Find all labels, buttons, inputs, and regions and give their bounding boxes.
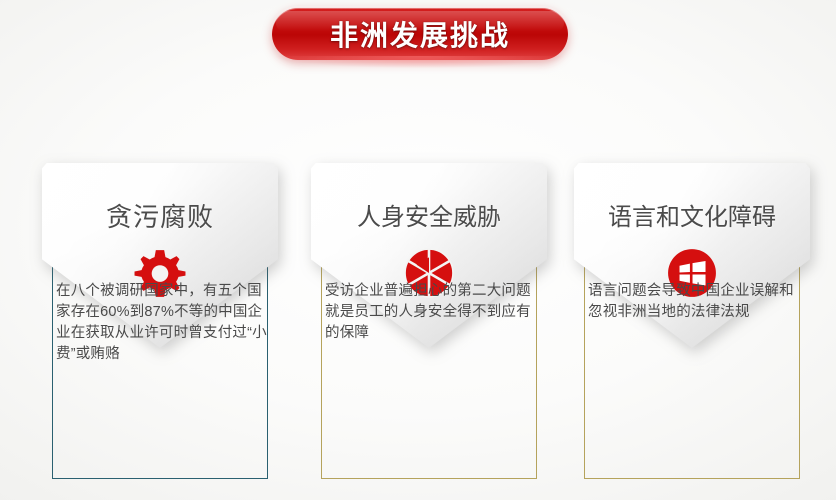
card-body-text: 受访企业普遍担心的第二大问题就是员工的人身安全得不到应有的保障 — [325, 281, 537, 344]
page-title: 非洲发展挑战 — [330, 14, 510, 54]
title-banner: 非洲发展挑战 — [272, 8, 568, 60]
card-heading: 人身安全威胁 — [311, 197, 547, 232]
card-heading: 语言和文化障碍 — [574, 197, 810, 232]
card-body-text: 在八个被调研国家中，有五个国家存在60%到87%不等的中国企业在获取从业许可时曾… — [56, 281, 268, 365]
card-body-text: 语言问题会导致中国企业误解和忽视非洲当地的法律法规 — [588, 281, 800, 323]
challenge-card-personal-safety: 人身安全威胁 — [311, 163, 547, 483]
challenge-card-language-culture: 语言和文化障碍 语言问题会导致中国企业误解和忽视非洲当地的法律法规 — [574, 163, 810, 483]
card-heading: 贪污腐败 — [42, 197, 278, 234]
slide-canvas: 非洲发展挑战 贪污腐败 在八个被调研国家中，有五个国家存在60%到87%不等的中… — [0, 0, 836, 500]
challenge-card-corruption: 贪污腐败 在八个被调研国家中，有五个国家存在60%到87%不等的中国企业在获取从… — [42, 163, 278, 483]
